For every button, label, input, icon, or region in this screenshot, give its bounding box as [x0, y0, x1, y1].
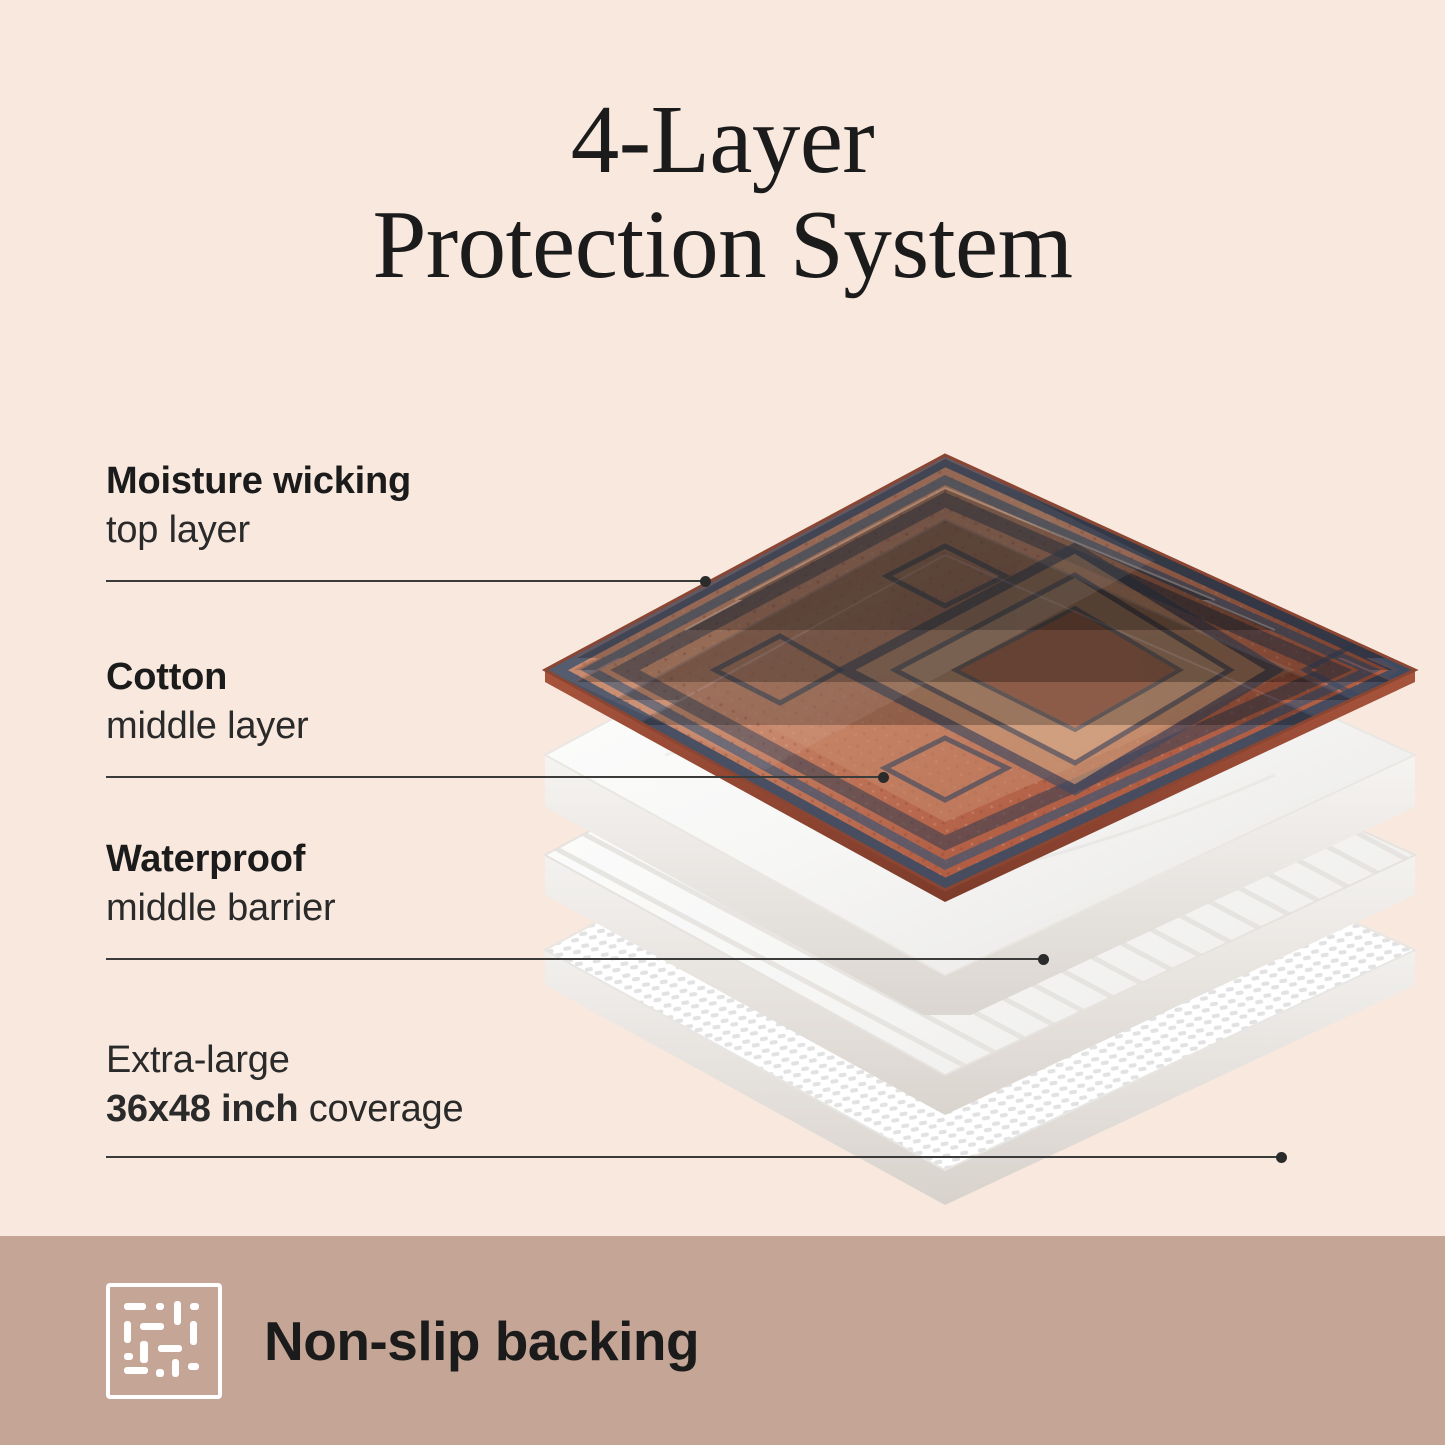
leader-dot-moisture-wicking: [700, 576, 711, 587]
callout-subtitle-waterproof: middle barrier: [106, 887, 336, 930]
leader-dot-size: [1276, 1152, 1287, 1163]
leader-line-size: [106, 1156, 1282, 1158]
callout-subtitle-moisture-wicking: top layer: [106, 509, 411, 552]
leader-dot-cotton: [878, 772, 889, 783]
callout-size: Extra-large 36x48 inch coverage: [106, 1033, 463, 1131]
top-rug-layer: [515, 370, 1435, 930]
bottom-band: Non-slip backing: [0, 1236, 1445, 1445]
callout-size-dimensions: 36x48 inch: [106, 1088, 298, 1130]
layer-stack-illustration: [515, 370, 1435, 1210]
callout-moisture-wicking: Moisture wicking top layer: [106, 460, 411, 552]
page-title: 4-Layer Protection System: [0, 88, 1445, 298]
callout-waterproof: Waterproof middle barrier: [106, 838, 336, 930]
non-slip-texture-icon: [106, 1283, 222, 1399]
callout-title-waterproof: Waterproof: [106, 838, 336, 881]
title-line-1: 4-Layer: [0, 88, 1445, 193]
infographic-canvas: 4-Layer Protection System: [0, 0, 1445, 1445]
title-line-2: Protection System: [0, 193, 1445, 298]
callout-cotton: Cotton middle layer: [106, 656, 308, 748]
callout-subtitle-cotton: middle layer: [106, 705, 308, 748]
callout-title-moisture-wicking: Moisture wicking: [106, 460, 411, 503]
band-label: Non-slip backing: [264, 1309, 699, 1373]
callout-title-cotton: Cotton: [106, 656, 308, 699]
callout-subtitle-size: 36x48 inch coverage: [106, 1088, 463, 1131]
leader-line-waterproof: [106, 958, 1044, 960]
leader-line-moisture-wicking: [106, 580, 706, 582]
callout-title-size: Extra-large: [106, 1039, 463, 1082]
leader-line-cotton: [106, 776, 884, 778]
leader-dot-waterproof: [1038, 954, 1049, 965]
callout-size-coverage: coverage: [298, 1088, 463, 1130]
